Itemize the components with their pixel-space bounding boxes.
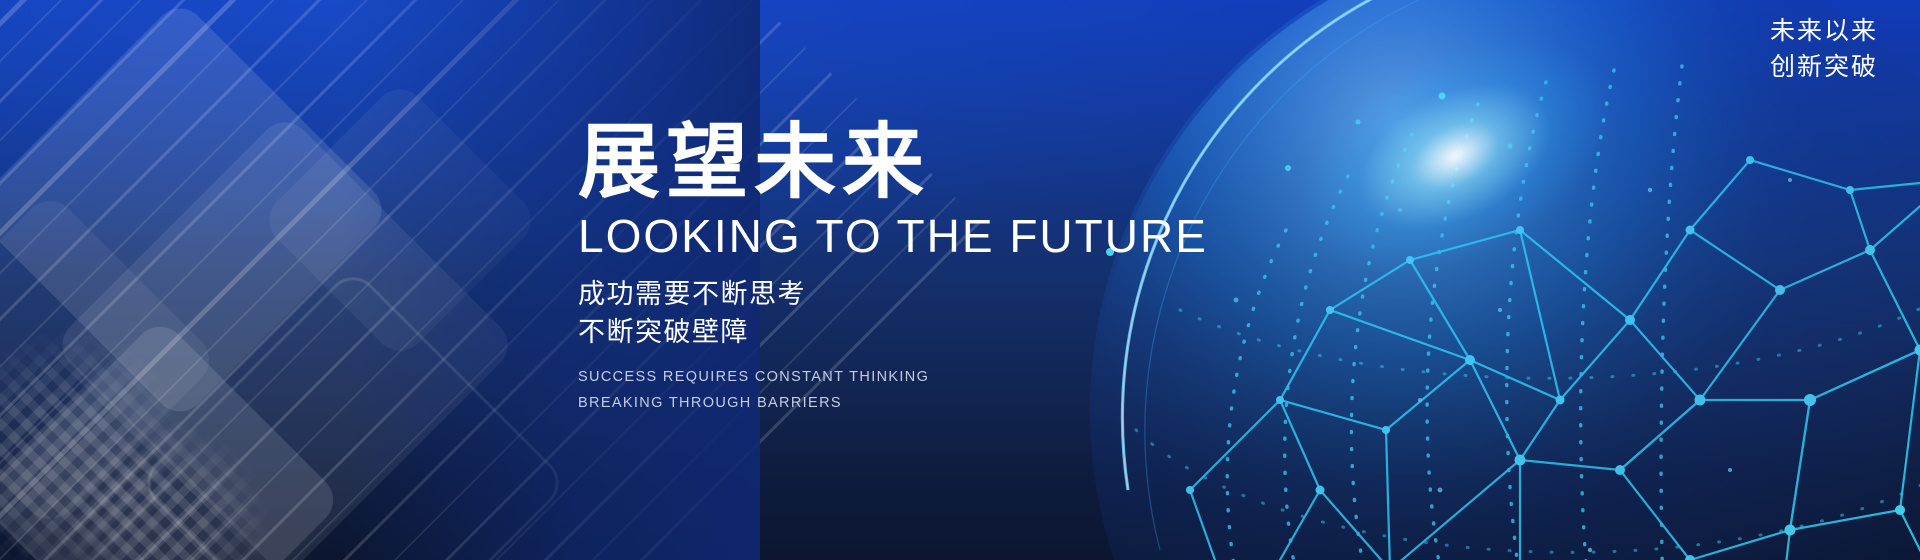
headline-title-en: LOOKING TO THE FUTURE [578, 210, 1298, 263]
subtitle-en-line-2: BREAKING THROUGH BARRIERS [578, 390, 1298, 417]
subtitle-en-line-1: SUCCESS REQUIRES CONSTANT THINKING [578, 364, 1298, 391]
corner-slogan: 未来以来 创新突破 [1770, 14, 1878, 85]
headline-title-cn: 展望未来 [578, 122, 1298, 204]
rounded-square-outline [137, 267, 570, 560]
headline-block: 展望未来 LOOKING TO THE FUTURE 成功需要不断思考 不断突破… [578, 122, 1298, 417]
rounded-square-medium [52, 112, 519, 560]
subtitle-cn-block: 成功需要不断思考 不断突破壁障 [578, 275, 1298, 352]
rounded-square-small [0, 190, 220, 529]
rounded-square-far [259, 79, 542, 362]
dot-grid-pattern-b [17, 377, 314, 560]
dot-grid-pattern-a [0, 278, 242, 560]
subtitle-cn-line-2: 不断突破壁障 [578, 313, 1298, 351]
subtitle-cn-line-1: 成功需要不断思考 [578, 275, 1298, 313]
rounded-square-lower [0, 316, 344, 560]
corner-slogan-line-1: 未来以来 [1770, 14, 1878, 50]
hero-banner: 未来以来 创新突破 展望未来 LOOKING TO THE FUTURE 成功需… [0, 0, 1920, 560]
subtitle-en-block: SUCCESS REQUIRES CONSTANT THINKING BREAK… [578, 364, 1298, 418]
rounded-square-large [0, 0, 392, 422]
corner-slogan-line-2: 创新突破 [1770, 50, 1878, 86]
